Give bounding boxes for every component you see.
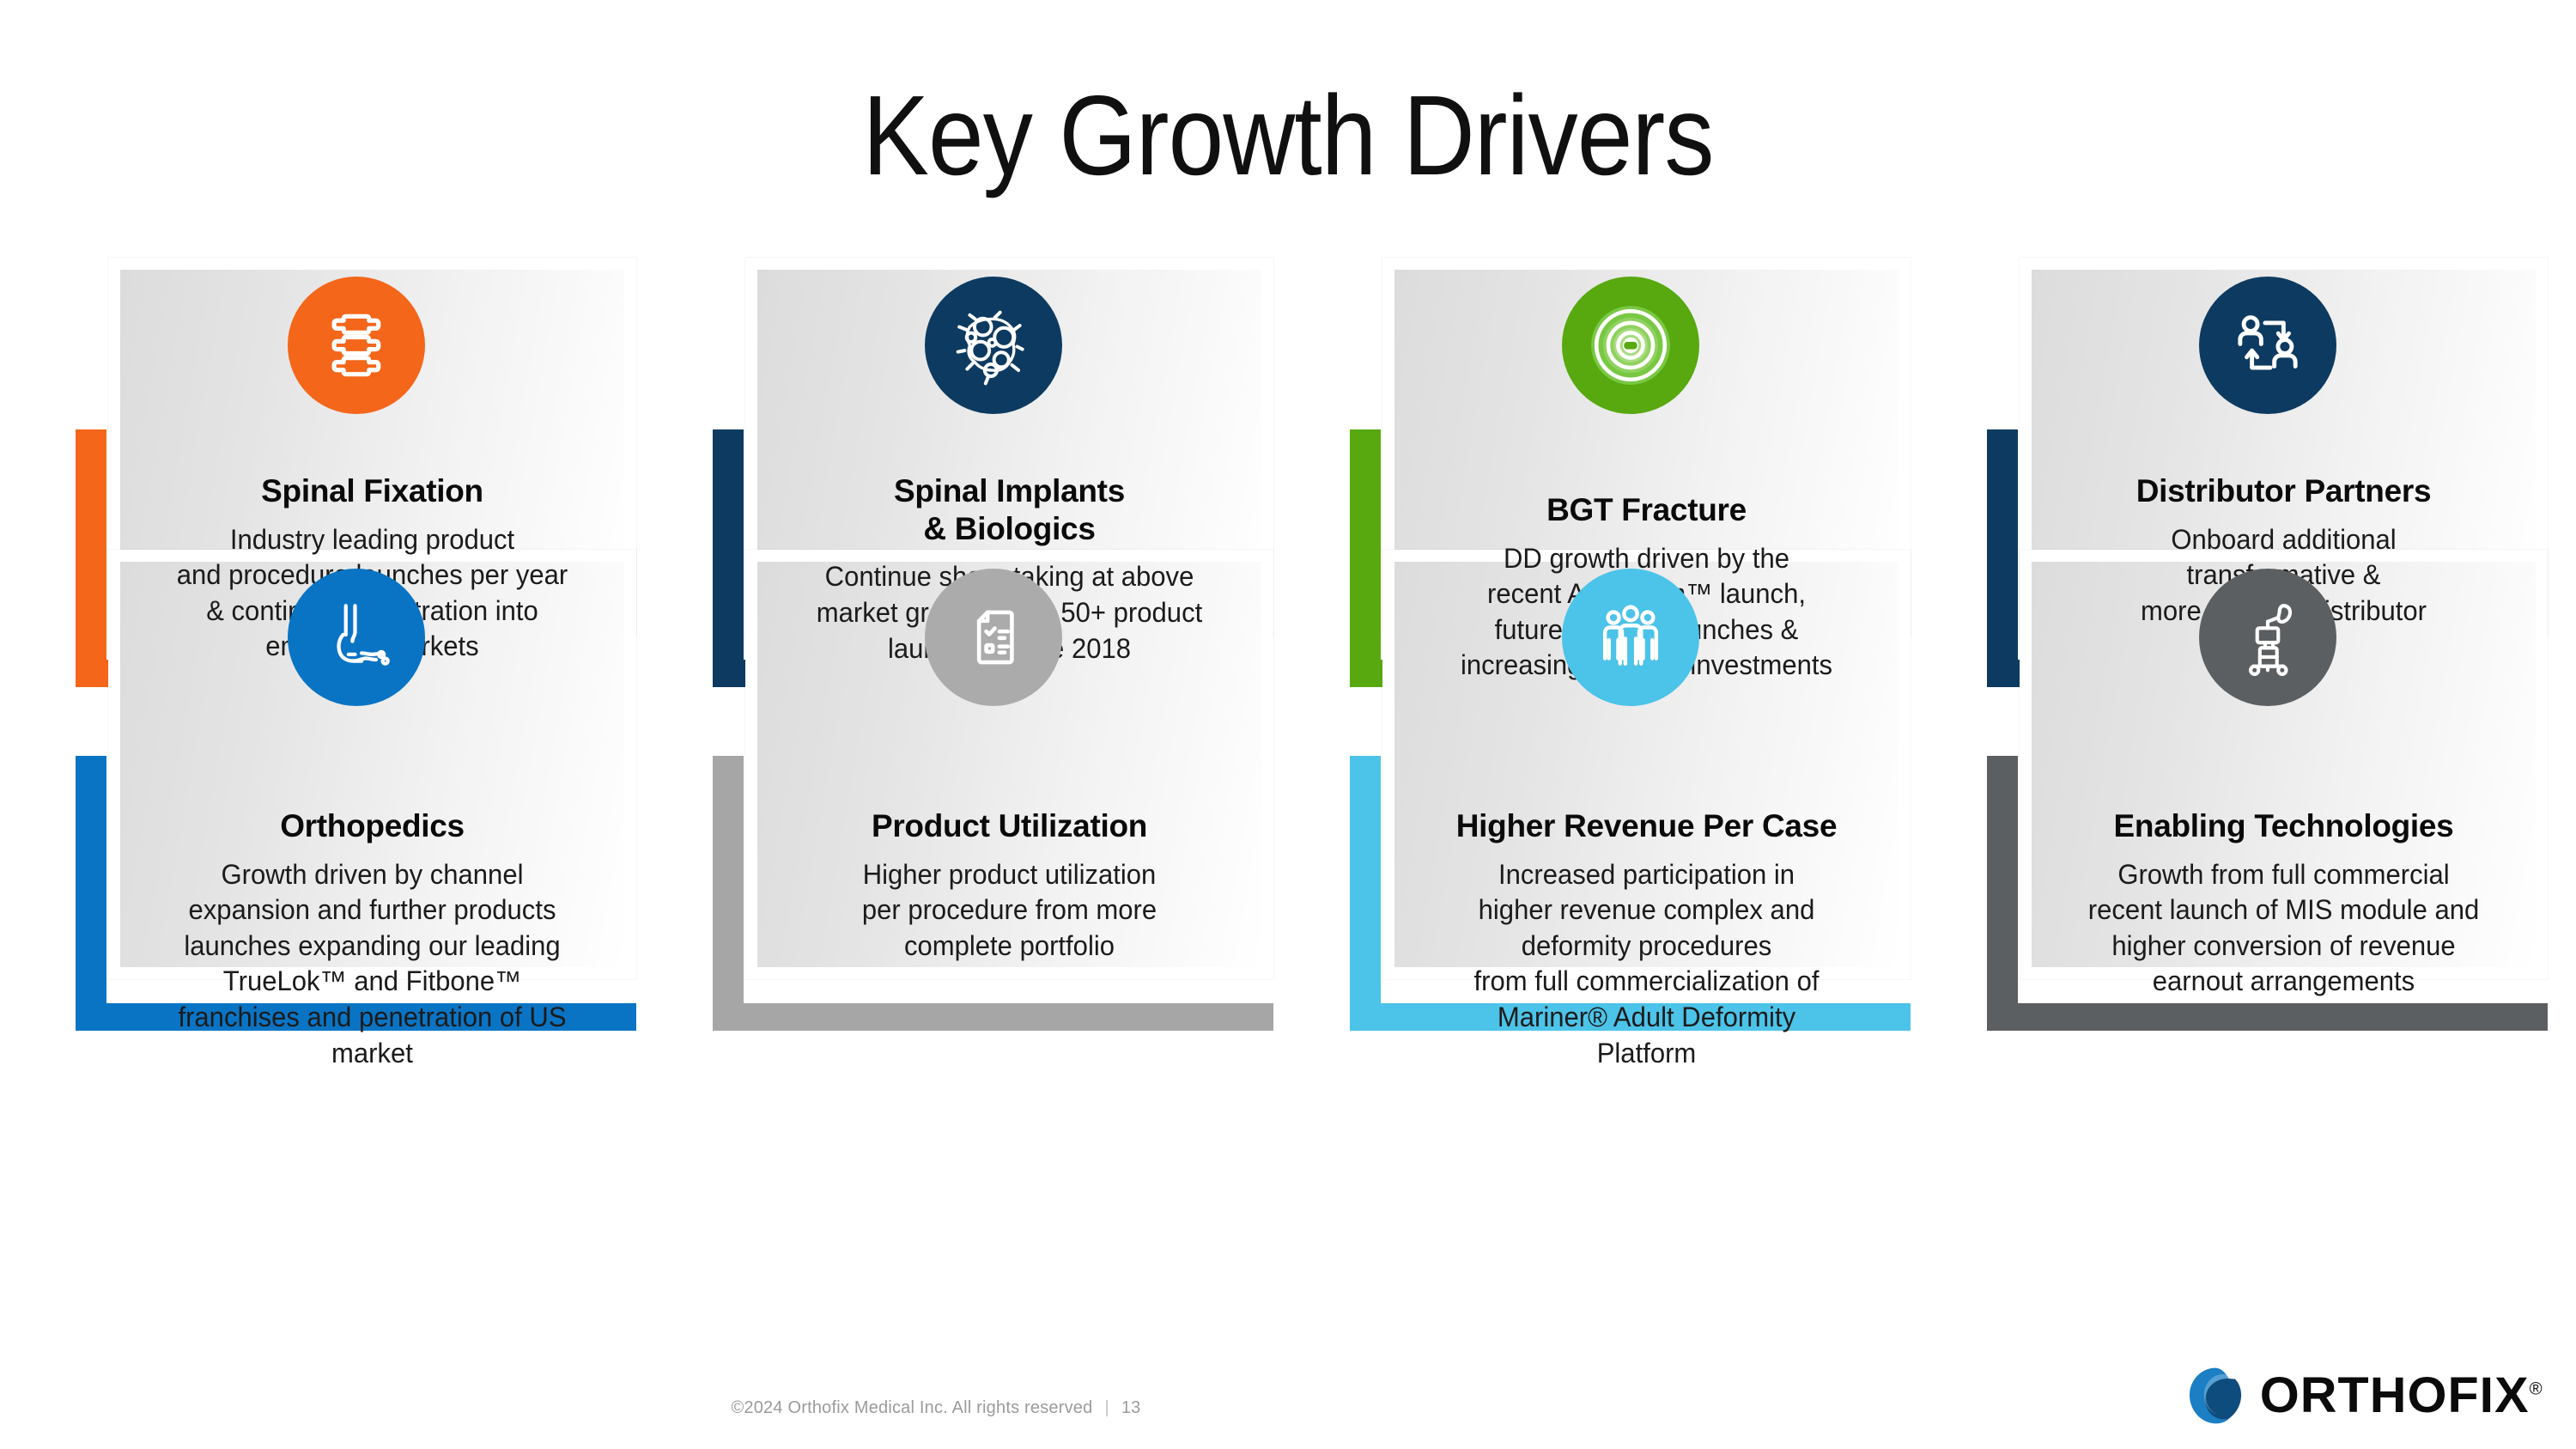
card-description: Increased participation in higher revenu… bbox=[1406, 857, 1888, 1072]
card-title: Enabling Technologies bbox=[2035, 807, 2532, 845]
card-icon-wrap bbox=[76, 277, 636, 414]
card-title: Spinal Implants & Biologics bbox=[761, 472, 1258, 547]
checklist-document-icon bbox=[925, 569, 1062, 706]
card-title: Higher Revenue Per Case bbox=[1398, 807, 1895, 845]
card-text: Higher Revenue Per Case Increased partic… bbox=[1382, 807, 1911, 1071]
card-icon-wrap bbox=[713, 277, 1273, 414]
card-text: Enabling Technologies Growth from full c… bbox=[2020, 807, 2548, 1000]
growth-driver-card-orthopedics[interactable]: Orthopedics Growth driven by channel exp… bbox=[76, 550, 636, 1082]
card-icon-wrap bbox=[1987, 277, 2548, 414]
people-exchange-icon bbox=[2199, 277, 2336, 414]
bone-growth-stimulator-icon bbox=[1562, 277, 1699, 414]
surgical-robot-cart-icon bbox=[2199, 569, 2336, 706]
card-description: Growth from full commercial recent launc… bbox=[2043, 857, 2525, 1000]
registered-mark: ® bbox=[2529, 1380, 2543, 1399]
cell-cluster-icon bbox=[925, 277, 1062, 414]
card-text: Product Utilization Higher product utili… bbox=[745, 807, 1273, 964]
footer-copyright: ©2024 Orthofix Medical Inc. All rights r… bbox=[0, 1398, 1872, 1418]
copyright-text: ©2024 Orthofix Medical Inc. All rights r… bbox=[731, 1398, 1092, 1417]
people-group-icon bbox=[1562, 569, 1699, 706]
page-title: Key Growth Drivers bbox=[155, 79, 2421, 192]
logo-wordmark: ORTHOFIX bbox=[2259, 1367, 2529, 1423]
growth-driver-grid: Spinal Fixation Industry leading product… bbox=[0, 258, 2576, 1340]
card-icon-wrap bbox=[1350, 569, 1911, 706]
card-title: Orthopedics bbox=[124, 807, 621, 845]
card-icon-wrap bbox=[1987, 569, 2548, 706]
orthofix-logo: ORTHOFIX® bbox=[2184, 1364, 2540, 1428]
card-description: Higher product utilization per procedure… bbox=[769, 857, 1251, 965]
card-icon-wrap bbox=[1350, 277, 1911, 414]
spine-icon bbox=[288, 277, 425, 414]
card-title: Distributor Partners bbox=[2035, 472, 2532, 510]
card-description: Growth driven by channel expansion and f… bbox=[131, 857, 614, 1072]
footer-separator: | bbox=[1092, 1398, 1121, 1417]
card-icon-wrap bbox=[713, 569, 1273, 706]
card-title: Spinal Fixation bbox=[124, 472, 621, 510]
orthofix-logo-mark bbox=[2184, 1364, 2247, 1428]
growth-driver-card-product-utilization[interactable]: Product Utilization Higher product utili… bbox=[713, 550, 1273, 1082]
card-title: Product Utilization bbox=[761, 807, 1258, 845]
card-icon-wrap bbox=[76, 569, 636, 706]
growth-driver-card-higher-revenue-per-case[interactable]: Higher Revenue Per Case Increased partic… bbox=[1350, 550, 1911, 1082]
page-number: 13 bbox=[1121, 1398, 1141, 1417]
card-text: Orthopedics Growth driven by channel exp… bbox=[108, 807, 636, 1071]
foot-ankle-bone-icon bbox=[288, 569, 425, 706]
growth-driver-card-enabling-technologies[interactable]: Enabling Technologies Growth from full c… bbox=[1987, 550, 2548, 1082]
orthofix-logo-text: ORTHOFIX® bbox=[2259, 1371, 2543, 1421]
card-title: BGT Fracture bbox=[1398, 491, 1895, 529]
